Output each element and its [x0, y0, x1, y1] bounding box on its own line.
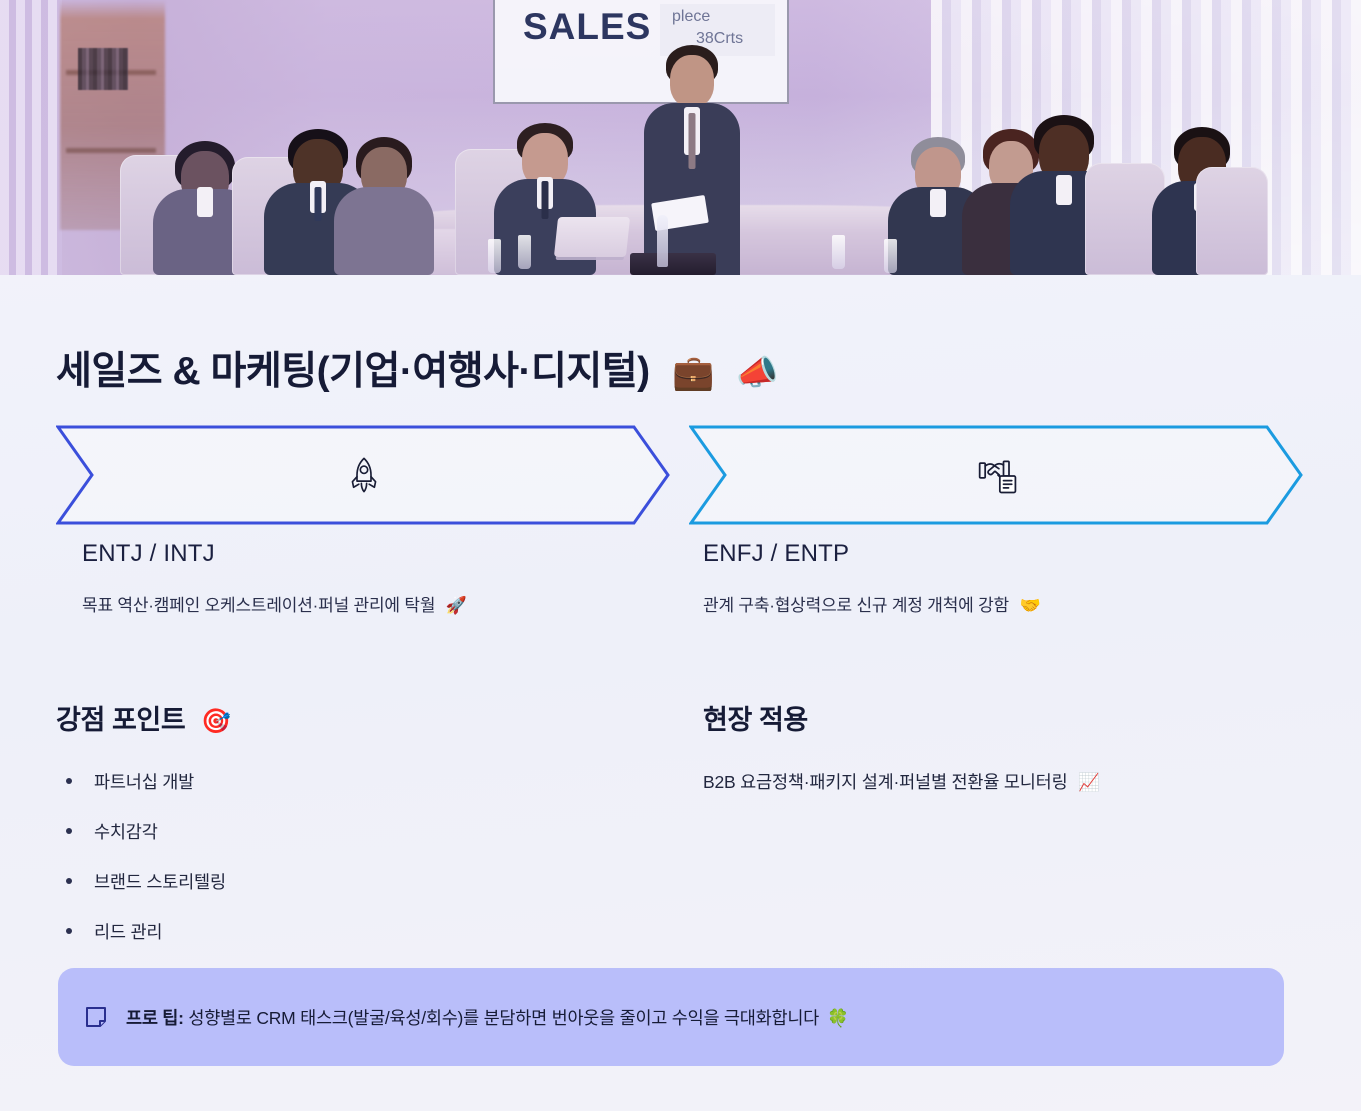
hero-water-glass	[518, 235, 531, 269]
hero-laptop	[554, 217, 630, 257]
pro-tip-text: 프로 팁: 성향별로 CRM 태스크(발굴/육성/회수)를 분담하면 번아웃을 …	[126, 1005, 849, 1030]
type-block-enfj: ENFJ / ENTP 관계 구축·협상력으로 신규 계정 개척에 강함 🤝	[703, 540, 1041, 616]
chevron-banner-enfj[interactable]	[689, 425, 1305, 525]
hero-books	[78, 48, 128, 90]
hero-wall-column	[0, 0, 62, 275]
chevron-banner-entj[interactable]	[56, 425, 672, 525]
section-title-text: 강점 포인트	[56, 705, 185, 735]
section-field-application: 현장 적용 B2B 요금정책·패키지 설계·퍼널별 전환율 모니터링 📈	[703, 698, 1303, 794]
pro-tip-label: 프로 팁:	[126, 1008, 184, 1028]
sticky-note-icon	[84, 1005, 108, 1029]
type-description: 관계 구축·협상력으로 신규 계정 개척에 강함 🤝	[703, 591, 1041, 616]
chevron-banner-row	[56, 425, 1305, 525]
pro-tip-body: 성향별로 CRM 태스크(발굴/육성/회수)를 분담하면 번아웃을 줄이고 수익…	[184, 1008, 819, 1028]
rocket-emoji-icon: 🚀	[446, 596, 467, 615]
hero-water-bottle	[657, 215, 668, 267]
section-title-field: 현장 적용	[703, 698, 1303, 737]
strengths-list: 파트너십 개발 수치감각 브랜드 스토리텔링 리드 관리	[56, 769, 656, 944]
hero-presenter	[640, 45, 744, 275]
list-item: 파트너십 개발	[56, 769, 656, 794]
type-description-text: 목표 역산·캠페인 오케스트레이션·퍼널 관리에 탁월	[82, 596, 435, 615]
chart-increasing-emoji-icon: 📈	[1078, 772, 1100, 792]
hero-screen-title: SALES	[523, 6, 651, 48]
section-title-text: 현장 적용	[703, 705, 808, 735]
page-root: SALES plece 38Crts	[0, 0, 1361, 1111]
hero-podium	[630, 253, 716, 275]
type-block-entj: ENTJ / INTJ 목표 역산·캠페인 오케스트레이션·퍼널 관리에 탁월 …	[82, 540, 467, 616]
section-title-strengths: 강점 포인트 🎯	[56, 698, 656, 737]
megaphone-emoji-icon: 📣	[736, 354, 778, 392]
page-title-text: 세일즈 & 마케팅(기업·여행사·디지털)	[56, 350, 650, 393]
list-item: 수치감각	[56, 819, 656, 844]
hero-water-glass	[884, 239, 897, 273]
hero-person	[332, 133, 436, 275]
list-item: 리드 관리	[56, 919, 656, 944]
section-strengths: 강점 포인트 🎯 파트너십 개발 수치감각 브랜드 스토리텔링 리드 관리	[56, 698, 656, 969]
field-application-text: B2B 요금정책·패키지 설계·퍼널별 전환율 모니터링 📈	[703, 769, 1303, 794]
type-description: 목표 역산·캠페인 오케스트레이션·퍼널 관리에 탁월 🚀	[82, 591, 467, 616]
field-application-label: B2B 요금정책·패키지 설계·퍼널별 전환율 모니터링	[703, 772, 1067, 792]
hero-banner-image: SALES plece 38Crts	[0, 0, 1361, 275]
hero-screen-note-line1: plece	[672, 8, 710, 26]
rocket-icon	[343, 454, 385, 496]
page-title: 세일즈 & 마케팅(기업·여행사·디지털) 💼 📣	[56, 340, 778, 396]
hero-water-glass	[832, 235, 845, 269]
target-emoji-icon: 🎯	[201, 708, 230, 735]
handshake-document-icon	[976, 454, 1018, 496]
briefcase-emoji-icon: 💼	[672, 354, 714, 392]
pro-tip-banner: 프로 팁: 성향별로 CRM 태스크(발굴/육성/회수)를 분담하면 번아웃을 …	[58, 968, 1284, 1066]
type-name: ENFJ / ENTP	[703, 540, 1041, 568]
type-name: ENTJ / INTJ	[82, 540, 467, 568]
hero-water-glass	[488, 239, 501, 273]
list-item: 브랜드 스토리텔링	[56, 869, 656, 894]
type-description-text: 관계 구축·협상력으로 신규 계정 개척에 강함	[703, 596, 1009, 615]
hero-chair	[1196, 167, 1268, 275]
clover-emoji-icon: 🍀	[827, 1008, 849, 1028]
handshake-emoji-icon: 🤝	[1020, 596, 1041, 615]
